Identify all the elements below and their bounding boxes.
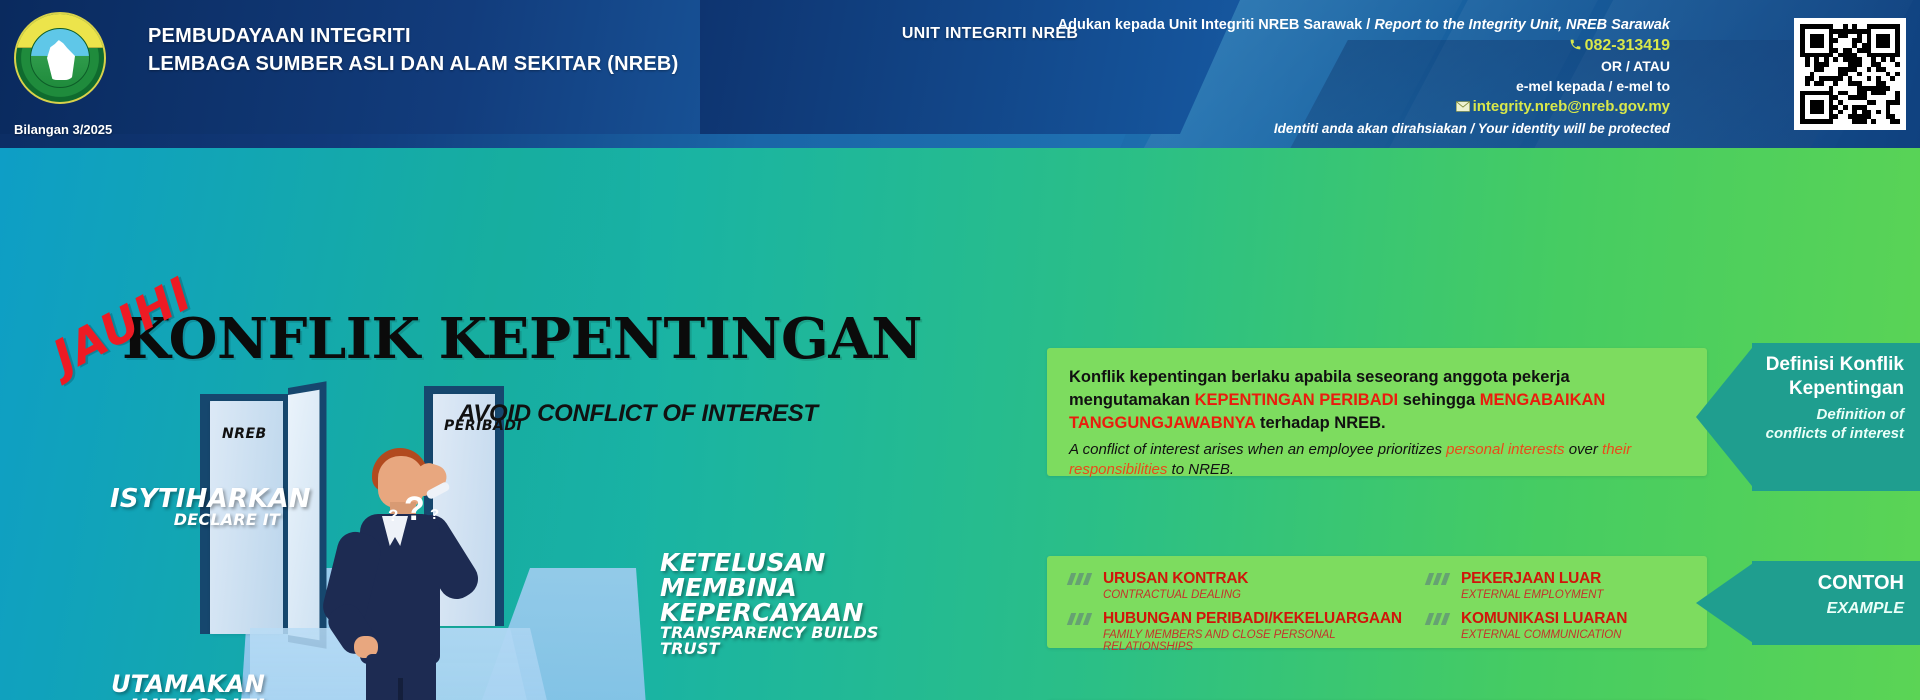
report-line-en: Report to the Integrity Unit, NREB Saraw… — [1374, 17, 1670, 33]
label-ms: UTAMAKAN INTEGRITI — [35, 672, 265, 700]
nreb-logo — [14, 12, 106, 104]
example-en: FAMILY MEMBERS AND CLOSE PERSONAL RELATI… — [1103, 629, 1409, 653]
email-label: e-mel kepada / e-mel to — [960, 77, 1670, 96]
qr-code[interactable] — [1794, 18, 1906, 130]
org-title-line2: LEMBAGA SUMBER ASLI DAN ALAM SEKITAR (NR… — [148, 50, 678, 78]
question-mark-icon: ? — [388, 506, 398, 526]
tab-label-en: Definition of conflicts of interest — [1752, 405, 1904, 443]
example-item: KOMUNIKASI LUARAN EXTERNAL COMMUNICATION — [1427, 610, 1707, 641]
illustration-label-declare: ISYTIHARKAN DECLARE IT — [110, 486, 280, 528]
email-address: integrity.nreb@nreb.gov.my — [1473, 98, 1670, 115]
definition-panel: Konflik kepentingan berlaku apabila sese… — [1047, 348, 1707, 476]
envelope-icon — [1456, 98, 1470, 117]
definition-en-p1: A conflict of interest arises when an em… — [1069, 441, 1446, 458]
illustration-label-integrity: UTAMAKAN INTEGRITI INTEGRITY FIRST — [35, 672, 265, 700]
example-en: EXTERNAL EMPLOYMENT — [1461, 589, 1707, 601]
contact-phone[interactable]: 082-313419 — [960, 36, 1670, 56]
contact-email[interactable]: integrity.nreb@nreb.gov.my — [960, 97, 1670, 117]
definition-en-p2: over — [1565, 441, 1603, 458]
phone-icon — [1569, 37, 1582, 56]
example-item: PEKERJAAN LUAR EXTERNAL EMPLOYMENT — [1427, 570, 1707, 601]
label-ms: KETELUSAN MEMBINA KEPERCAYAAN — [660, 550, 920, 625]
definition-en-p3: to NREB. — [1167, 461, 1234, 478]
arrow-marks-icon — [1069, 573, 1095, 585]
definition-ms-p2: sehingga — [1398, 391, 1480, 409]
examples-column-left: URUSAN KONTRAK CONTRACTUAL DEALING HUBUN… — [1069, 570, 1409, 662]
poster-body: JAUHI KONFLIK KEPENTINGAN AVOID CONFLICT… — [0, 148, 1920, 700]
definition-text-en: A conflict of interest arises when an em… — [1069, 440, 1669, 480]
tab-label-en: EXAMPLE — [1752, 599, 1904, 618]
hero-subtitle: AVOID CONFLICT OF INTEREST — [458, 400, 818, 428]
phone-number: 082-313419 — [1585, 37, 1670, 54]
tab-example[interactable]: CONTOH EXAMPLE — [1752, 561, 1920, 645]
contact-block: Adukan kepada Unit Integriti NREB Sarawa… — [960, 16, 1670, 138]
label-ms: ISYTIHARKAN — [110, 486, 280, 512]
examples-column-right: PEKERJAAN LUAR EXTERNAL EMPLOYMENT KOMUN… — [1427, 570, 1707, 650]
example-item: URUSAN KONTRAK CONTRACTUAL DEALING — [1069, 570, 1409, 601]
illustration-label-transparency: KETELUSAN MEMBINA KEPERCAYAAN TRANSPAREN… — [660, 550, 920, 657]
label-en: DECLARE IT — [110, 512, 280, 528]
report-line: Adukan kepada Unit Integriti NREB Sarawa… — [960, 16, 1670, 35]
example-en: EXTERNAL COMMUNICATION — [1461, 629, 1707, 641]
definition-text-ms: Konflik kepentingan berlaku apabila sese… — [1069, 366, 1689, 435]
tab-label-ms: CONTOH — [1752, 571, 1904, 595]
label-en: TRANSPARENCY BUILDS TRUST — [660, 625, 920, 657]
arrow-marks-icon — [1427, 613, 1453, 625]
example-en: CONTRACTUAL DEALING — [1103, 589, 1409, 601]
question-mark-icon: ? — [430, 506, 439, 523]
question-mark-icon: ? — [404, 490, 425, 529]
arrow-marks-icon — [1069, 613, 1095, 625]
example-ms: HUBUNGAN PERIBADI/KEKELUARGAAN — [1103, 610, 1409, 628]
org-title: PEMBUDAYAAN INTEGRITI LEMBAGA SUMBER ASL… — [148, 22, 678, 78]
door-nreb-label: NREB — [222, 426, 267, 442]
examples-panel: URUSAN KONTRAK CONTRACTUAL DEALING HUBUN… — [1047, 556, 1707, 648]
org-title-line1: PEMBUDAYAAN INTEGRITI — [148, 22, 678, 50]
definition-ms-p3: terhadap NREB. — [1255, 414, 1385, 432]
or-separator: OR / ATAU — [960, 57, 1670, 76]
arrow-marks-icon — [1427, 573, 1453, 585]
tab-label-ms: Definisi Konflik Kepentingan — [1752, 353, 1904, 401]
hero-title: KONFLIK KEPENTINGAN — [122, 306, 922, 372]
definition-en-highlight1: personal interests — [1446, 441, 1564, 458]
definition-ms-highlight1: KEPENTINGAN PERIBADI — [1195, 391, 1399, 409]
example-ms: PEKERJAAN LUAR — [1461, 570, 1707, 588]
privacy-note: Identiti anda akan dirahsiakan / Your id… — [960, 119, 1670, 138]
person-figure — [320, 408, 480, 700]
issue-number: Bilangan 3/2025 — [14, 122, 112, 137]
report-line-ms: Adukan kepada Unit Integriti NREB Sarawa… — [1058, 17, 1375, 33]
page-header: PEMBUDAYAAN INTEGRITI LEMBAGA SUMBER ASL… — [0, 0, 1920, 148]
example-item: HUBUNGAN PERIBADI/KEKELUARGAAN FAMILY ME… — [1069, 610, 1409, 653]
example-ms: URUSAN KONTRAK — [1103, 570, 1409, 588]
tab-definition[interactable]: Definisi Konflik Kepentingan Definition … — [1752, 343, 1920, 491]
example-ms: KOMUNIKASI LUARAN — [1461, 610, 1707, 628]
